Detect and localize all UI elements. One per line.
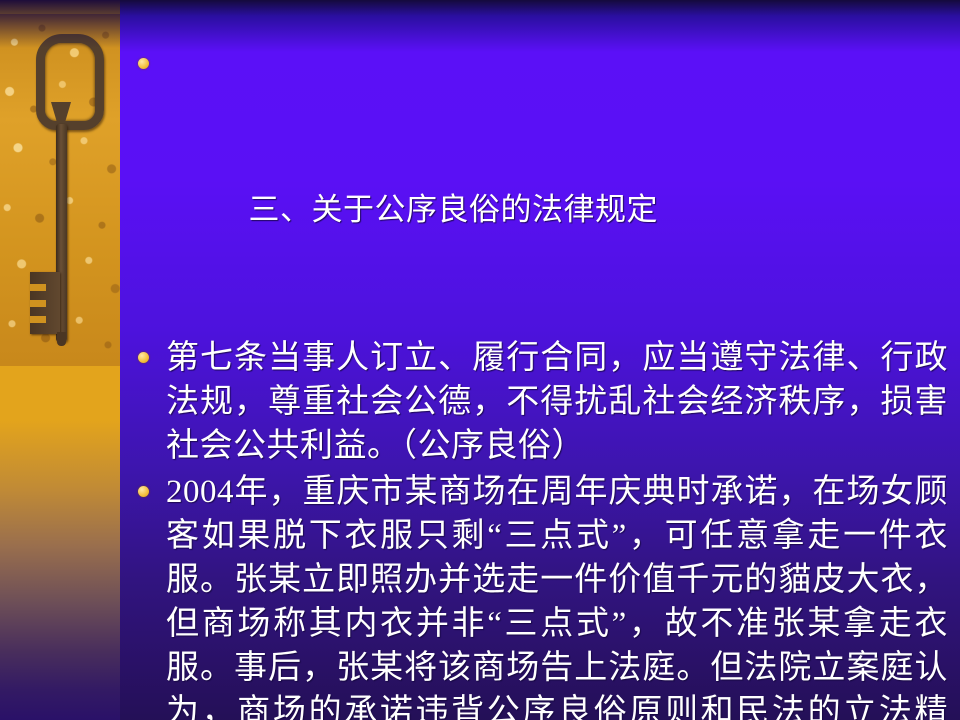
bullet-item-article-seven: 第七条当事人订立、履行合同，应当遵守法律、行政法规，尊重社会公德，不得扰乱社会经… [120, 336, 948, 468]
article-seven-text: 第七条当事人订立、履行合同，应当遵守法律、行政法规，尊重社会公德，不得扰乱社会经… [166, 336, 948, 468]
key-tooth-3 [30, 316, 46, 323]
sidebar-decoration [0, 0, 120, 720]
bullet-marker-icon [138, 352, 149, 363]
key-tooth-1 [30, 284, 46, 291]
key-tip-shape [57, 332, 66, 346]
case-2004-text: 2004年，重庆市某商场在周年庆典时承诺，在场女顾客如果脱下衣服只剩“三点式”，… [166, 470, 948, 720]
key-bow-shape [36, 34, 104, 130]
key-icon [18, 32, 104, 354]
bullet-item-heading: 三、关于公序良俗的法律规定 [120, 42, 948, 330]
key-tooth-2 [30, 300, 46, 307]
presentation-slide: 三、关于公序良俗的法律规定 第七条当事人订立、履行合同，应当遵守法律、行政法规，… [0, 0, 960, 720]
slide-heading-text: 三、关于公序良俗的法律规定 [166, 186, 948, 234]
slide-content: 三、关于公序良俗的法律规定 第七条当事人订立、履行合同，应当遵守法律、行政法规，… [120, 0, 960, 720]
antique-key-photo [0, 14, 120, 366]
bullet-item-case-2004: 2004年，重庆市某商场在周年庆典时承诺，在场女顾客如果脱下衣服只剩“三点式”，… [120, 470, 948, 720]
bullet-list: 三、关于公序良俗的法律规定 第七条当事人订立、履行合同，应当遵守法律、行政法规，… [120, 0, 960, 720]
bullet-marker-icon [138, 486, 149, 497]
bullet-marker-icon [138, 58, 149, 69]
